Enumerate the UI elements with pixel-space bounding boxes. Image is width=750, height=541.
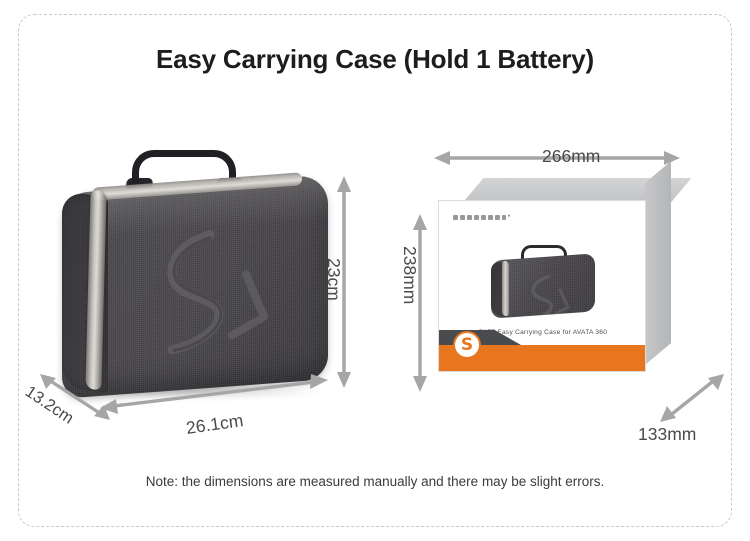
package-height-label: 238mm: [399, 246, 420, 304]
box-product-zipper: [502, 260, 509, 316]
box-side-face: [645, 161, 671, 365]
case-width-arrow: [100, 374, 328, 412]
sunnylife-s-emboss-icon: [114, 211, 284, 373]
retail-box-illustration: B177 Easy Carrying Case for AVATA 360 S: [438, 178, 688, 393]
page-title: Easy Carrying Case (Hold 1 Battery): [0, 44, 750, 75]
box-logo-badge: S: [453, 331, 481, 359]
case-height-label: 23cm: [323, 258, 344, 301]
package-depth-label: 133mm: [638, 424, 696, 445]
box-front-face: B177 Easy Carrying Case for AVATA 360 S: [438, 200, 646, 372]
measurement-note: Note: the dimensions are measured manual…: [0, 474, 750, 489]
package-width-label: 266mm: [542, 146, 600, 167]
box-product-s-emboss-icon: [513, 269, 575, 319]
box-product-image: [491, 245, 595, 317]
package-depth-arrow: [660, 372, 724, 424]
box-badge-letter: S: [461, 337, 473, 354]
sunnylife-brand-logo-icon: [453, 213, 511, 222]
infographic-canvas: Easy Carrying Case (Hold 1 Battery): [0, 0, 750, 541]
